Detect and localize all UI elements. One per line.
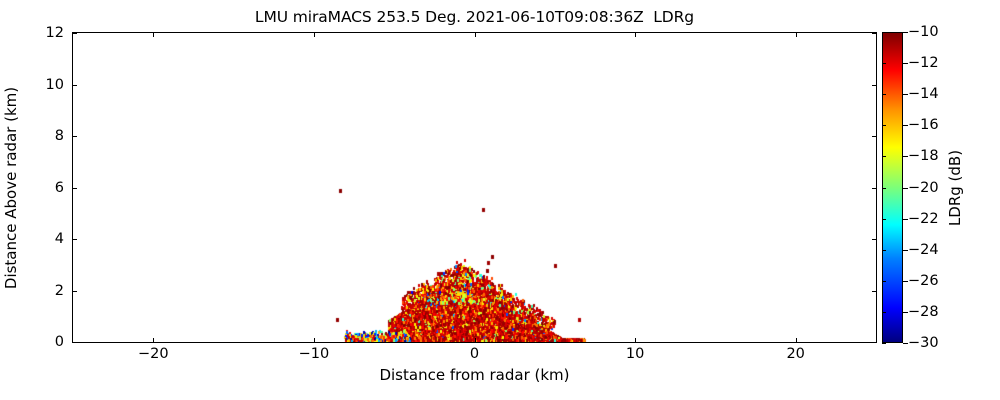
- colorbar-tick-label: −24: [908, 242, 939, 258]
- colorbar-tick-label: −12: [908, 55, 939, 71]
- y-tick-label-text: 4: [55, 231, 64, 247]
- colorbar-tick-label: −14: [908, 86, 939, 102]
- colorbar-label: LDRg (dB): [944, 32, 966, 343]
- x-tick-mark: [475, 33, 476, 37]
- y-tick-mark: [872, 239, 876, 240]
- y-tick-label: 4: [64, 231, 73, 247]
- colorbar-tick-label: −16: [908, 117, 939, 133]
- y-tick-label: 12: [64, 25, 82, 41]
- colorbar-tick-mark: [882, 250, 886, 251]
- colorbar-tick-mark: [882, 63, 886, 64]
- x-tick-mark: [635, 338, 636, 342]
- x-tick-label: 10: [626, 346, 644, 362]
- page-title: LMU miraMACS 253.5 Deg. 2021-06-10T09:08…: [72, 8, 877, 26]
- y-tick-label: 6: [64, 180, 73, 196]
- colorbar-tick-label: −28: [908, 304, 939, 320]
- x-tick-label: −20: [138, 346, 169, 362]
- x-tick-mark: [635, 33, 636, 37]
- x-tick-mark: [796, 338, 797, 342]
- colorbar-tick-label: −18: [908, 148, 939, 164]
- y-tick-label-text: 2: [55, 283, 64, 299]
- plot-axes: [72, 32, 877, 343]
- y-tick-mark: [872, 33, 876, 34]
- y-tick-label: 0: [64, 334, 73, 350]
- colorbar-tick-mark: [882, 32, 886, 33]
- y-tick-mark: [872, 188, 876, 189]
- y-tick-label-text: 12: [46, 25, 64, 41]
- x-tick-mark: [314, 33, 315, 37]
- y-tick-mark: [872, 136, 876, 137]
- y-tick-mark: [73, 342, 77, 343]
- y-tick-label-text: 6: [55, 180, 64, 196]
- y-axis-label: Distance Above radar (km): [0, 32, 22, 343]
- y-tick-label: 8: [64, 128, 73, 144]
- colorbar-tick-label: −20: [908, 180, 939, 196]
- x-tick-mark: [314, 338, 315, 342]
- x-tick-label: −10: [299, 346, 330, 362]
- y-axis-label-text: Distance Above radar (km): [2, 86, 20, 288]
- x-axis-label: Distance from radar (km): [72, 366, 877, 384]
- colorbar-label-text: LDRg (dB): [946, 149, 964, 225]
- y-tick-mark: [872, 291, 876, 292]
- x-tick-label: 20: [786, 346, 804, 362]
- colorbar-tick-mark: [882, 343, 886, 344]
- colorbar: [882, 32, 903, 343]
- y-tick-label-text: 0: [55, 334, 64, 350]
- y-tick-mark: [73, 239, 77, 240]
- figure: LMU miraMACS 253.5 Deg. 2021-06-10T09:08…: [0, 0, 1000, 400]
- y-tick-mark: [73, 291, 77, 292]
- colorbar-tick-mark: [882, 188, 886, 189]
- y-tick-label: 2: [64, 283, 73, 299]
- y-tick-mark: [73, 136, 77, 137]
- x-tick-mark: [475, 338, 476, 342]
- colorbar-tick-mark: [882, 125, 886, 126]
- colorbar-tick-label: −30: [908, 335, 939, 351]
- colorbar-tick-mark: [882, 281, 886, 282]
- colorbar-tick-label: −22: [908, 211, 939, 227]
- x-tick-mark: [153, 338, 154, 342]
- y-tick-label: 10: [64, 77, 82, 93]
- colorbar-tick-label: −26: [908, 273, 939, 289]
- colorbar-tick-mark: [882, 312, 886, 313]
- y-tick-label-text: 8: [55, 128, 64, 144]
- colorbar-tick-mark: [882, 219, 886, 220]
- x-tick-mark: [796, 33, 797, 37]
- scatter-plot-canvas: [73, 33, 876, 342]
- y-tick-mark: [73, 188, 77, 189]
- y-tick-label-text: 10: [46, 77, 64, 93]
- colorbar-tick-mark: [882, 156, 886, 157]
- x-tick-label: 0: [470, 346, 479, 362]
- y-tick-mark: [872, 85, 876, 86]
- colorbar-tick-label: −10: [908, 24, 939, 40]
- colorbar-tick-mark: [882, 94, 886, 95]
- y-tick-mark: [872, 342, 876, 343]
- x-tick-mark: [153, 33, 154, 37]
